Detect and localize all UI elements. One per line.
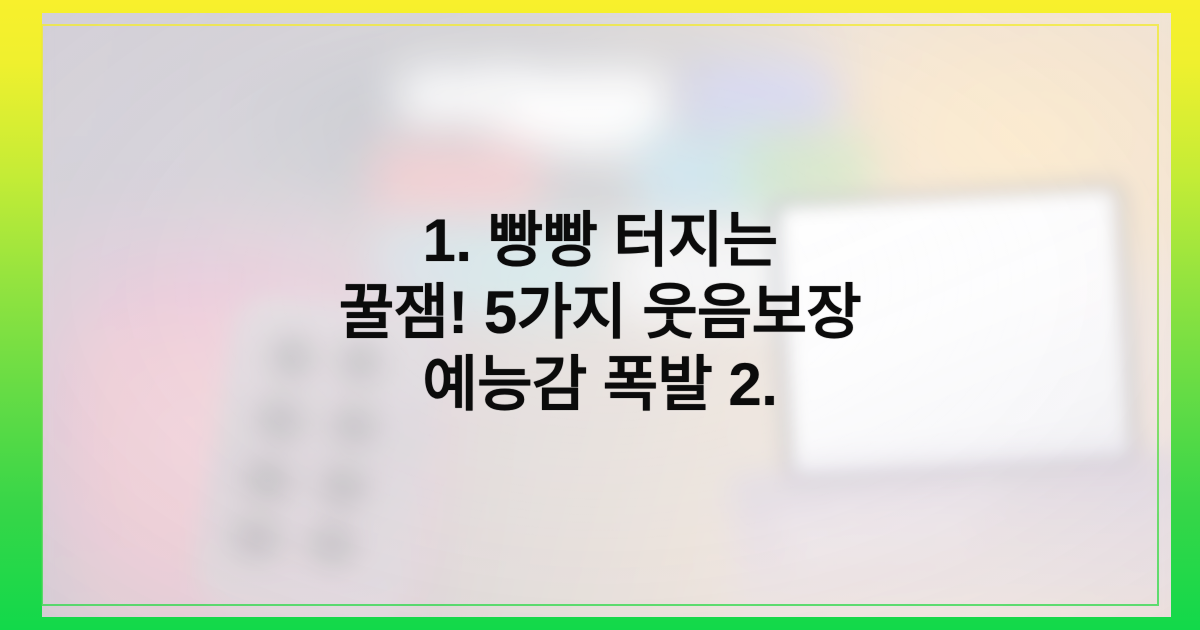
photo-vignette <box>42 13 1171 617</box>
background-photo <box>42 13 1171 617</box>
thumbnail-card: 1. 빵빵 터지는 꿀잼! 5가지 웃음보장 예능감 폭발 2. <box>0 0 1200 630</box>
